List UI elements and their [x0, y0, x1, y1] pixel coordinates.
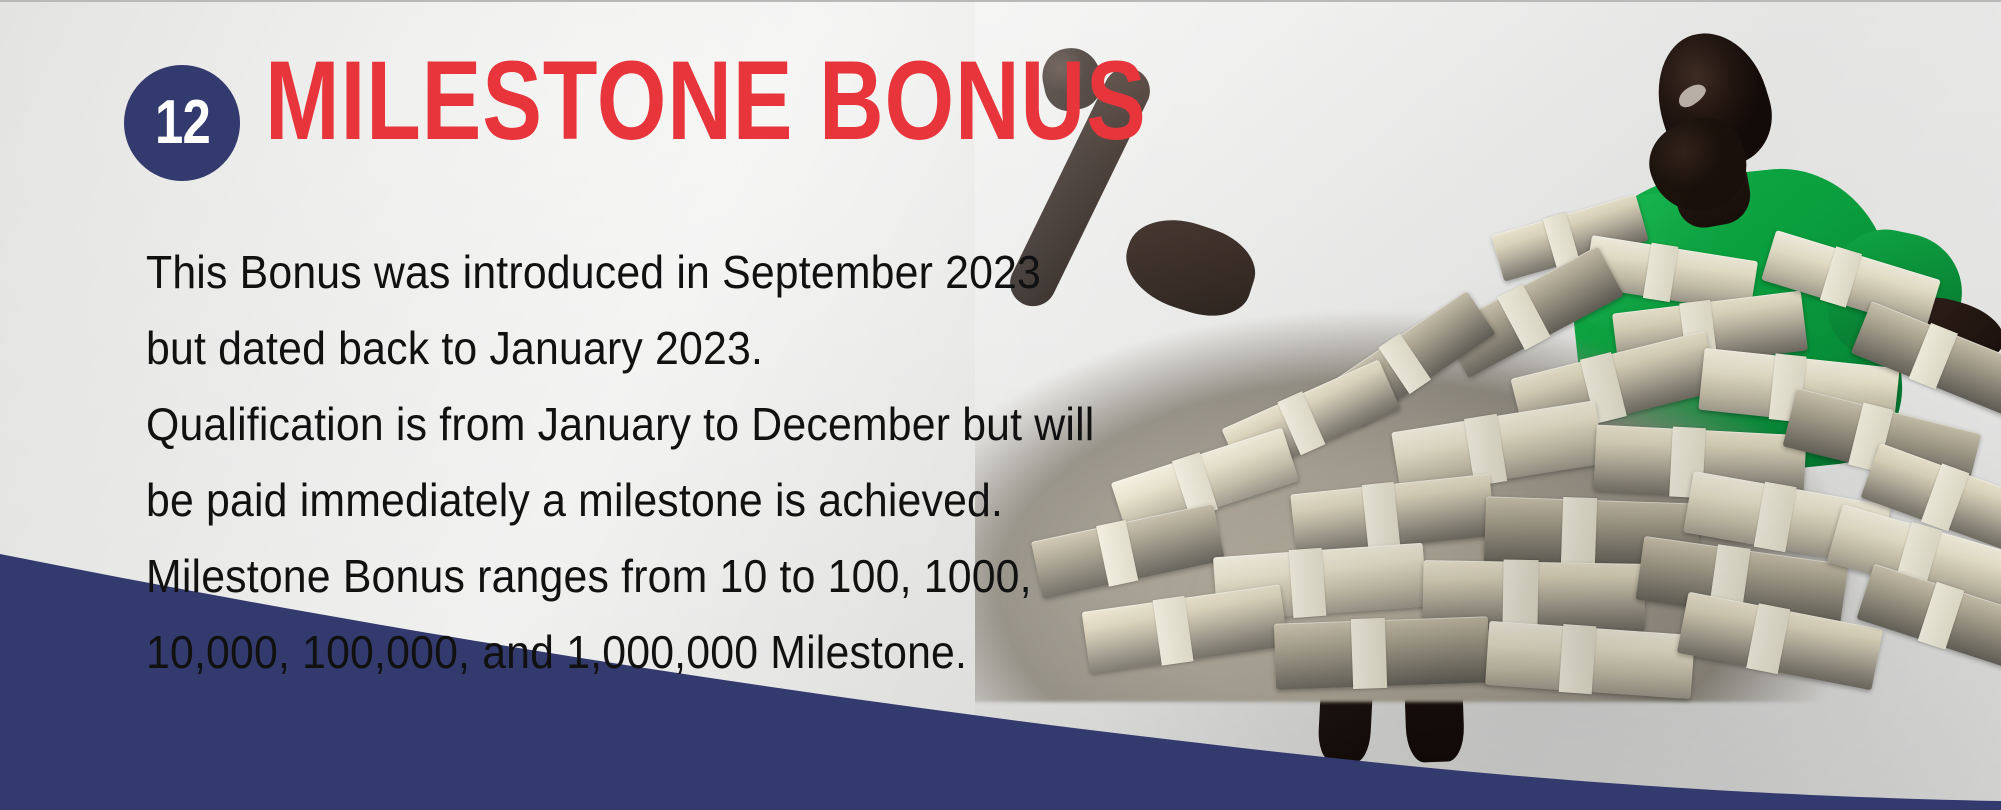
milestone-bonus-slide: 12 MILESTONE BONUS This Bonus was introd…	[0, 0, 2001, 810]
page-title: MILESTONE BONUS	[265, 42, 1147, 160]
body-line: This Bonus was introduced in September 2…	[146, 234, 1085, 310]
body-line: Milestone Bonus ranges from 10 to 100, 1…	[146, 538, 1085, 614]
body-text: This Bonus was introduced in September 2…	[146, 234, 1085, 690]
body-line: 10,000, 100,000, and 1,000,000 Milestone…	[146, 614, 1085, 690]
body-line: Qualification is from January to Decembe…	[146, 386, 1085, 462]
body-line: be paid immediately a milestone is achie…	[146, 462, 1085, 538]
body-line: but dated back to January 2023.	[146, 310, 1085, 386]
slide-number-label: 12	[155, 92, 210, 154]
slide-number-badge: 12	[124, 65, 240, 181]
